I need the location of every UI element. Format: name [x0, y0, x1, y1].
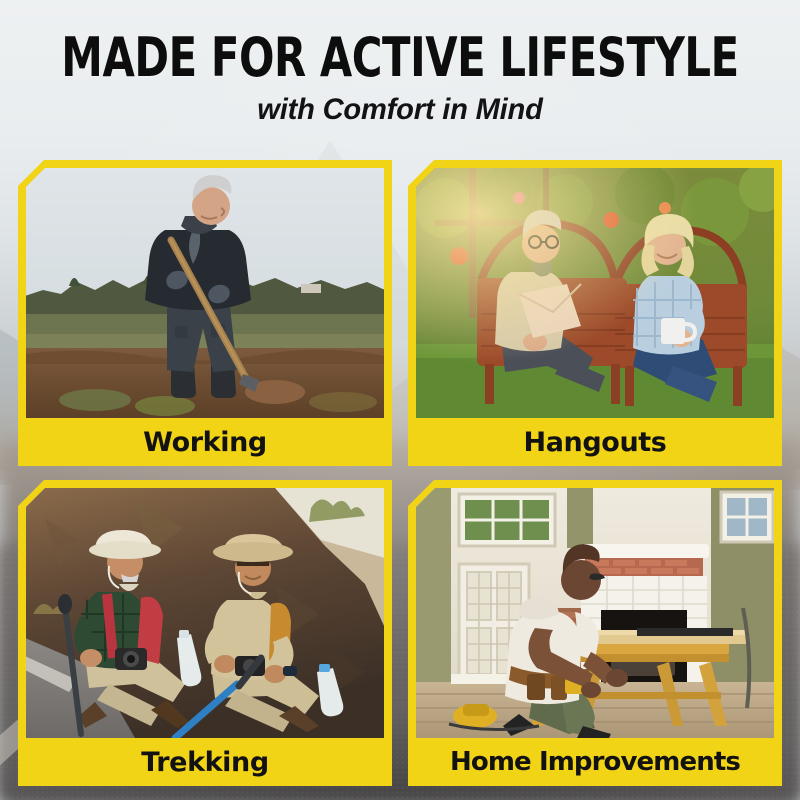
garden-chairs-illustration [416, 168, 774, 418]
feature-card-hangouts[interactable]: Hangouts [408, 160, 782, 466]
rocky-trail-illustration [26, 488, 384, 738]
page-subtitle: with Comfort in Mind [12, 85, 788, 126]
card-label-trekking: Trekking [18, 738, 392, 786]
card-photo-hangouts [416, 168, 774, 418]
card-photo-trekking [26, 488, 384, 738]
card-label-working: Working [18, 418, 392, 466]
card-label-hangouts: Hangouts [408, 418, 782, 466]
feature-card-home-improvements[interactable]: Home Improvements [408, 480, 782, 786]
card-photo-working [26, 168, 384, 418]
card-photo-home-improvements [416, 488, 774, 738]
card-label-home-improvements: Home Improvements [408, 738, 782, 786]
page-title: MADE FOR ACTIVE LIFESTYLE [56, 0, 744, 85]
feature-card-grid: Working [18, 160, 782, 786]
poster-canvas: MADE FOR ACTIVE LIFESTYLE with Comfort i… [0, 0, 800, 800]
feature-card-working[interactable]: Working [18, 160, 392, 466]
farm-field-illustration [26, 168, 384, 418]
feature-card-trekking[interactable]: Trekking [18, 480, 392, 786]
interior-diy-illustration [416, 488, 774, 738]
heading-block: MADE FOR ACTIVE LIFESTYLE with Comfort i… [0, 0, 800, 126]
